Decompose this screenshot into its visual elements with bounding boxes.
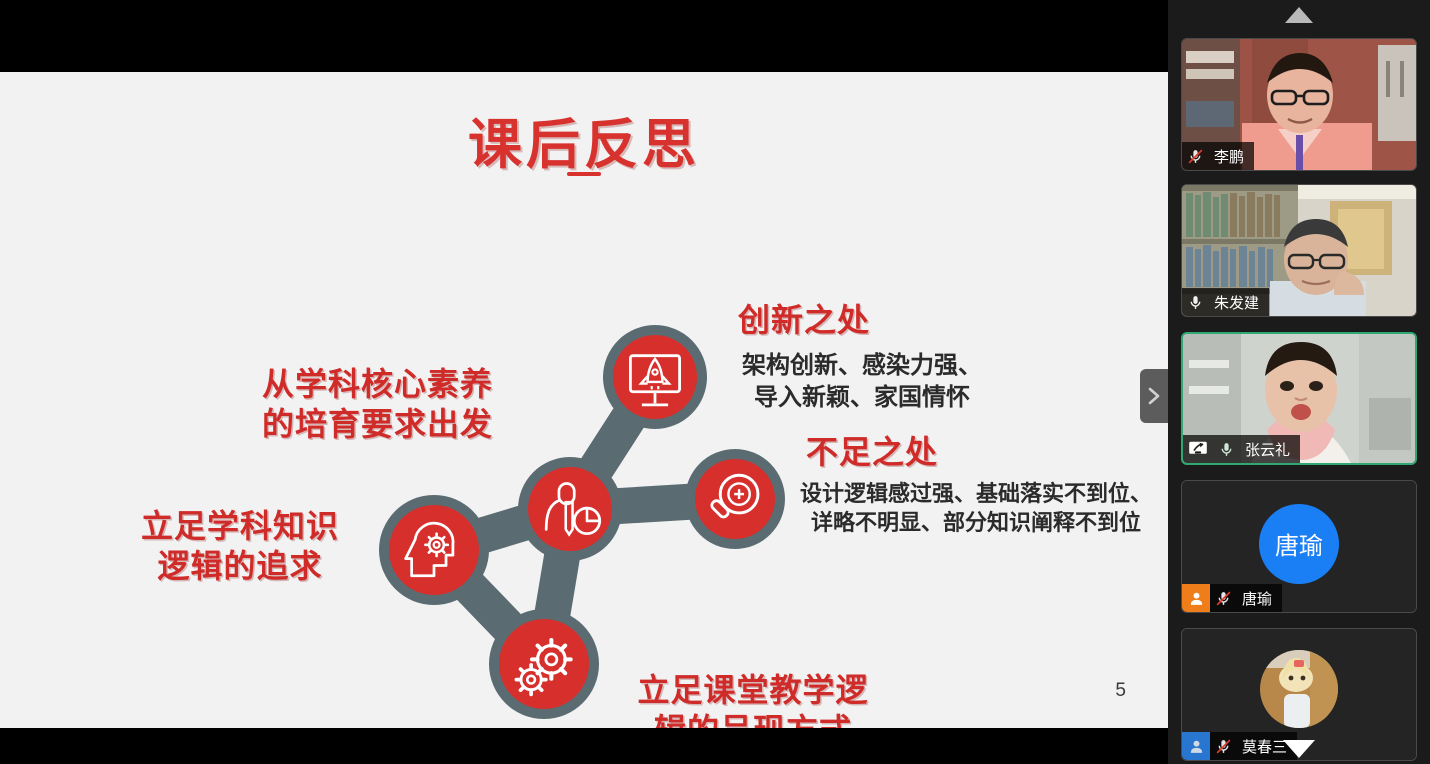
collapse-panel-button[interactable]	[1140, 369, 1168, 423]
avatar-initials: 唐瑜	[1275, 526, 1323, 561]
participant-name-bar: 李鹏	[1182, 142, 1254, 170]
participant-name: 朱发建	[1208, 292, 1259, 313]
mic-icon	[1213, 435, 1239, 463]
triangle-up-icon	[1285, 7, 1313, 23]
rail-scroll-down-button[interactable]	[1168, 734, 1430, 764]
mic-muted-icon	[1210, 584, 1236, 612]
participant-name-bar: 张云礼	[1183, 435, 1300, 463]
letterbox-bottom	[0, 728, 1168, 764]
participant-name-bar: 朱发建	[1182, 288, 1269, 316]
mic-icon	[1182, 288, 1208, 316]
chevron-right-icon	[1147, 386, 1161, 406]
label-innovation-heading: 创新之处	[738, 300, 870, 340]
participant-name-bar: 唐瑜	[1182, 584, 1282, 612]
label-shortcoming-body: 设计逻辑感过强、基础落实不到位、 详略不明显、部分知识阐释不到位	[786, 480, 1166, 539]
rail-scroll-up-button[interactable]	[1168, 0, 1430, 30]
participant-tile-3[interactable]: 张云礼	[1181, 332, 1417, 465]
participant-video-rail: 李鹏	[1168, 0, 1430, 764]
slide-page-number: 5	[1115, 680, 1126, 702]
label-core-literacy: 从学科核心素养 的培育要求出发	[262, 364, 493, 444]
screen-share-icon	[1183, 435, 1213, 463]
label-classroom-logic: 立足课堂教学逻 辑的呈现方式	[630, 670, 876, 728]
mic-muted-icon	[1182, 142, 1208, 170]
user-badge-icon	[1182, 584, 1210, 612]
participant-name: 李鹏	[1208, 146, 1244, 167]
avatar: 唐瑜	[1259, 504, 1339, 584]
shared-screen-stage: 课后反思	[0, 0, 1168, 764]
triangle-down-icon	[1283, 740, 1315, 758]
participant-name: 唐瑜	[1236, 588, 1272, 609]
participant-tile-4[interactable]: 唐瑜 唐瑜	[1181, 480, 1417, 613]
label-shortcoming-heading: 不足之处	[806, 432, 938, 472]
participant-tile-2[interactable]: 朱发建	[1181, 184, 1417, 317]
avatar	[1260, 650, 1338, 728]
label-innovation-body: 架构创新、感染力强、 导入新颖、家国情怀	[712, 350, 1012, 414]
label-subject-knowledge: 立足学科知识 逻辑的追求	[134, 506, 346, 586]
participant-tile-1[interactable]: 李鹏	[1181, 38, 1417, 171]
zoom-meeting-window: 课后反思	[0, 0, 1430, 764]
participant-name: 张云礼	[1239, 439, 1290, 460]
presentation-slide: 课后反思	[0, 72, 1168, 728]
letterbox-top	[0, 0, 1168, 72]
